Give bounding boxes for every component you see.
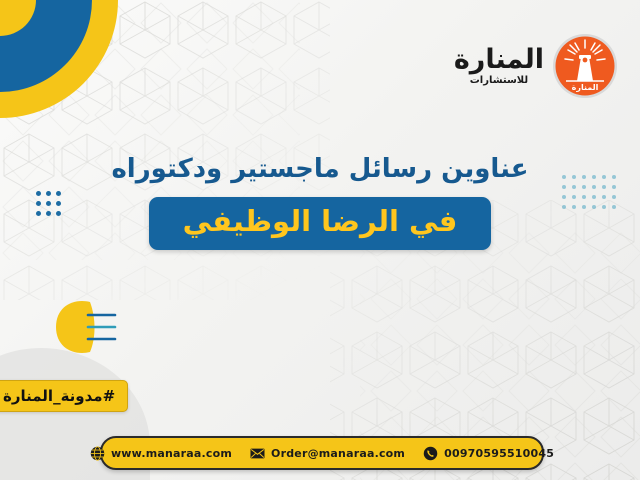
hashtag-label: #مدونة_المنارة	[3, 387, 115, 405]
logo-wordmark: المنارة للاستشارات	[454, 46, 544, 86]
phone-icon	[423, 446, 438, 461]
contact-bar: www.manaraa.com Order@manaraa.com 009705…	[100, 436, 544, 470]
headline-line2: في الرضا الوظيفي	[183, 206, 458, 238]
hashtag-ribbon[interactable]: #مدونة_المنارة	[0, 380, 128, 412]
headline-line1: عناوين رسائل ماجستير ودكتوراه	[0, 154, 640, 184]
contact-item-email[interactable]: Order@manaraa.com	[250, 446, 405, 461]
website-text: www.manaraa.com	[111, 447, 232, 460]
svg-text:المنارة: المنارة	[572, 83, 599, 92]
contact-item-phone[interactable]: 00970595510045	[423, 446, 554, 461]
globe-icon	[90, 446, 105, 461]
headline-block: عناوين رسائل ماجستير ودكتوراه في الرضا ا…	[0, 154, 640, 250]
contact-item-website[interactable]: www.manaraa.com	[90, 446, 232, 461]
banner-canvas: المنارة المنارة للاستشارات عناوين رسائل …	[0, 0, 640, 480]
headline-badge: في الرضا الوظيفي	[149, 197, 492, 250]
logo-subtitle: للاستشارات	[470, 76, 528, 86]
email-text: Order@manaraa.com	[271, 447, 405, 460]
phone-text: 00970595510045	[444, 447, 554, 460]
logo-name: المنارة	[454, 46, 544, 73]
leaf-ornament-decoration	[48, 296, 118, 358]
envelope-icon	[250, 446, 265, 461]
brand-logo[interactable]: المنارة المنارة للاستشارات	[454, 33, 618, 99]
lighthouse-icon: المنارة	[552, 33, 618, 99]
